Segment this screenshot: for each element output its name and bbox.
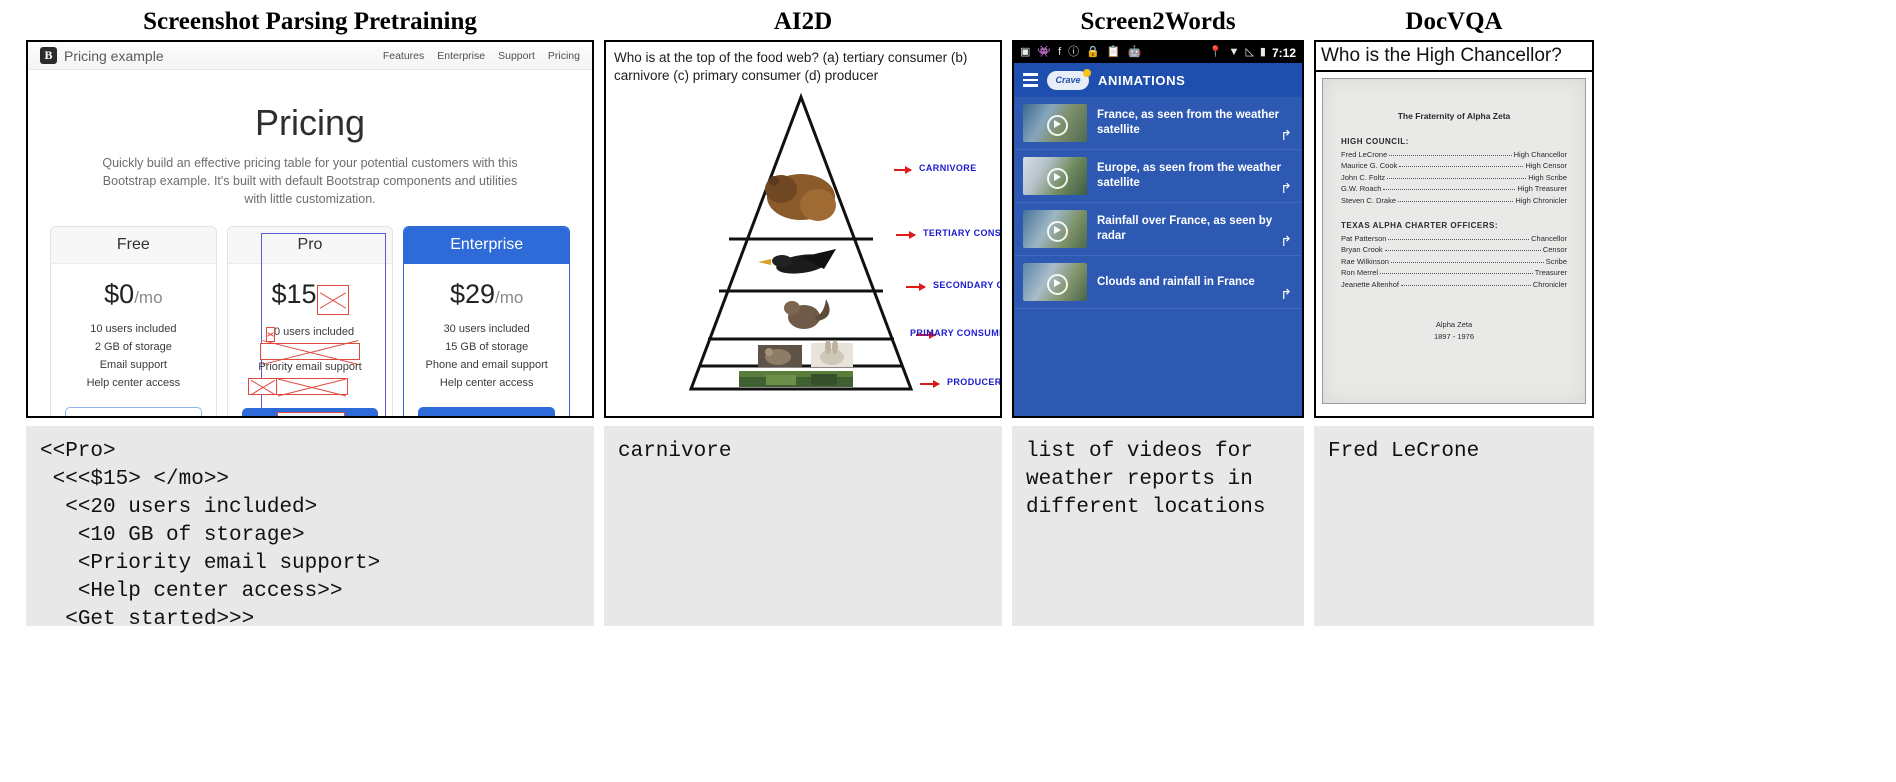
column-title-ai2d: AI2D	[604, 0, 1002, 34]
document-page: The Fraternity of Alpha Zeta HIGH COUNCI…	[1322, 78, 1586, 404]
column-screen2words: Screen2Words ▣ 👾 f ⓘ 🔒 📋 🤖 📍 ▼ ◺ ▮ 7:12	[1012, 0, 1304, 626]
figure-board: Screenshot Parsing Pretraining B Pricing…	[0, 0, 1896, 782]
navbar-brand[interactable]: Pricing example	[64, 48, 164, 64]
caption-screen2words: list of videos for weather reports in di…	[1012, 426, 1304, 626]
feature-item: Email support	[57, 357, 210, 375]
leader-dots	[1389, 155, 1511, 156]
price-amount: $15	[271, 280, 316, 310]
arrow-carnivore	[894, 169, 911, 171]
roster-row: John C. FoltzHigh Scribe	[1341, 173, 1567, 182]
feature-item: 30 users included	[410, 321, 563, 339]
nav-link-enterprise[interactable]: Enterprise	[437, 50, 485, 62]
price-amount: $29	[450, 279, 495, 309]
footer-org-name: Alpha Zeta	[1341, 319, 1567, 331]
column-title-docvqa: DocVQA	[1314, 0, 1594, 34]
price-period: /mo	[134, 288, 162, 307]
feature-item: Help center access	[410, 375, 563, 393]
roster-row: Fred LeCroneHigh Chancellor	[1341, 150, 1567, 159]
video-list[interactable]: France, as seen from the weather satelli…	[1014, 97, 1302, 416]
feature-item: Phone and email support	[410, 357, 563, 375]
pricing-card-free: Free $0/mo 10 users included 2 GB of sto…	[50, 226, 217, 418]
person-role: Scribe	[1546, 257, 1567, 266]
share-icon[interactable]: ↱	[1280, 233, 1292, 250]
person-role: Chancellor	[1531, 234, 1567, 243]
game-icon: 👾	[1037, 47, 1051, 58]
status-clock: 7:12	[1272, 46, 1296, 60]
facebook-icon: f	[1058, 47, 1061, 58]
crave-logo-dot	[1083, 69, 1091, 77]
bootstrap-logo-icon: B	[40, 47, 57, 64]
label-primary-consumer: PRIMARY CONSUMER	[910, 328, 1002, 338]
docvqa-question: Who is the High Chancellor?	[1316, 42, 1592, 72]
person-name: Jeanette Altenhof	[1341, 280, 1399, 289]
person-role: Censor	[1543, 245, 1567, 254]
pricing-navbar: B Pricing example Features Enterprise Su…	[28, 42, 592, 70]
section-heading-high-council: HIGH COUNCIL:	[1341, 137, 1567, 146]
roster-row: G.W. RoachHigh Treasurer	[1341, 184, 1567, 193]
mask-digit	[266, 327, 275, 342]
crave-logo-icon: Crave	[1047, 71, 1089, 90]
crave-logo-text: Crave	[1055, 75, 1080, 85]
page-title: Pricing	[44, 102, 576, 144]
feature-text: 20 users included	[268, 326, 354, 338]
column-docvqa: DocVQA Who is the High Chancellor? The F…	[1314, 0, 1594, 626]
leader-dots	[1388, 239, 1529, 240]
contact-us-button[interactable]: Contact us	[418, 407, 555, 418]
person-role: High Censor	[1525, 161, 1567, 170]
navbar-links: Features Enterprise Support Pricing	[383, 50, 580, 62]
feature-item: Priority email support	[234, 359, 387, 377]
column-title-screen2words: Screen2Words	[1012, 0, 1304, 34]
card-body-free: $0/mo 10 users included 2 GB of storage …	[51, 264, 216, 418]
leader-dots	[1385, 250, 1541, 251]
card-body-pro: $15 20 users included Priority email sup…	[228, 264, 393, 418]
signup-button[interactable]: Sign up for free	[65, 407, 202, 418]
sim-icon: ▣	[1020, 47, 1030, 58]
price-period: /mo	[495, 288, 523, 307]
leader-dots	[1391, 262, 1544, 263]
clipboard-icon: 📋	[1107, 47, 1121, 58]
leader-dots	[1387, 178, 1526, 179]
leader-dots	[1380, 273, 1533, 274]
play-icon[interactable]	[1047, 168, 1068, 189]
label-producer: PRODUCER	[947, 377, 1002, 387]
person-role: High Scribe	[1528, 173, 1567, 182]
person-name: G.W. Roach	[1341, 184, 1381, 193]
document-footer: Alpha Zeta 1897 - 1976	[1341, 319, 1567, 343]
footer-years: 1897 - 1976	[1341, 331, 1567, 343]
person-role: Treasurer	[1535, 268, 1567, 277]
battery-icon: ▮	[1260, 47, 1266, 58]
video-title: France, as seen from the weather satelli…	[1097, 108, 1293, 138]
play-icon[interactable]	[1047, 274, 1068, 295]
page-subtitle: Quickly build an effective pricing table…	[100, 154, 520, 208]
video-thumbnail[interactable]	[1023, 263, 1087, 301]
card-price-free: $0/mo	[57, 281, 210, 308]
leader-dots	[1401, 285, 1531, 286]
masked-price-period	[317, 285, 349, 315]
feature-item: Help center access	[57, 375, 210, 393]
card-price-pro: $15	[234, 281, 387, 311]
person-name: Maurice G. Cook	[1341, 161, 1397, 170]
video-thumbnail[interactable]	[1023, 104, 1087, 142]
arrow-secondary-consumer	[906, 286, 925, 288]
label-secondary-consumer: SECONDARY CONSUMER	[933, 280, 1002, 290]
play-icon[interactable]	[1047, 221, 1068, 242]
pricing-screenshot-panel: B Pricing example Features Enterprise Su…	[26, 40, 594, 418]
video-thumbnail[interactable]	[1023, 157, 1087, 195]
video-title: Rainfall over France, as seen by radar	[1097, 214, 1293, 244]
roster-row: Steven C. DrakeHigh Chronicler	[1341, 196, 1567, 205]
pricing-card-pro: Pro $15 20 users included Priority	[227, 226, 394, 418]
roster-row: Bryan CrookCensor	[1341, 245, 1567, 254]
label-carnivore: CARNIVORE	[919, 163, 977, 173]
app-bar-title: ANIMATIONS	[1098, 73, 1185, 88]
person-role: Chronicler	[1533, 280, 1567, 289]
arrow-tertiary-consumer	[896, 234, 915, 236]
person-name: Pat Patterson	[1341, 234, 1386, 243]
app-bar: Crave ANIMATIONS	[1014, 63, 1302, 97]
list-item[interactable]: France, as seen from the weather satelli…	[1014, 97, 1302, 150]
label-tertiary-consumer: TERTIARY CONSUMER	[923, 228, 1002, 238]
nav-link-features[interactable]: Features	[383, 50, 424, 62]
status-right-group: 📍 ▼ ◺ ▮ 7:12	[1209, 46, 1296, 60]
nav-link-support[interactable]: Support	[498, 50, 535, 62]
pricing-cards: Free $0/mo 10 users included 2 GB of sto…	[44, 226, 576, 418]
feature-item-masked	[234, 377, 387, 394]
feature-item: 2 GB of storage	[57, 339, 210, 357]
rabbit-image	[811, 340, 853, 367]
person-role: High Chronicler	[1515, 196, 1567, 205]
person-name: Steven C. Drake	[1341, 196, 1396, 205]
column-spp: Screenshot Parsing Pretraining B Pricing…	[26, 0, 594, 626]
card-title-free: Free	[51, 227, 216, 264]
masked-cta-label	[277, 412, 345, 418]
bear-image	[765, 174, 836, 221]
docvqa-panel: Who is the High Chancellor? The Fraterni…	[1314, 40, 1594, 418]
feature-item-masked-partial: 20 users included	[234, 324, 387, 342]
masked-help-feature-a	[248, 378, 278, 395]
info-icon: ⓘ	[1068, 47, 1079, 58]
food-pyramid-diagram: CARNIVORE TERTIARY CONSUMER SECONDARY CO…	[606, 89, 1000, 418]
person-name: John C. Foltz	[1341, 173, 1385, 182]
masked-storage-feature	[260, 343, 361, 360]
share-icon[interactable]: ↱	[1280, 180, 1292, 197]
person-name: Rae Wilkinson	[1341, 257, 1389, 266]
person-role: High Chancellor	[1514, 150, 1567, 159]
video-title: Europe, as seen from the weather satelli…	[1097, 161, 1293, 191]
pricing-body: Pricing Quickly build an effective prici…	[28, 70, 592, 418]
lock-icon: 🔒	[1086, 47, 1100, 58]
leader-dots	[1399, 166, 1523, 167]
person-role: High Treasurer	[1517, 184, 1567, 193]
card-body-enterprise: $29/mo 30 users included 15 GB of storag…	[404, 264, 569, 418]
share-icon[interactable]: ↱	[1280, 286, 1292, 303]
nav-link-pricing[interactable]: Pricing	[548, 50, 580, 62]
column-title-spp: Screenshot Parsing Pretraining	[26, 0, 594, 34]
video-title: Clouds and rainfall in France	[1097, 275, 1293, 290]
person-name: Fred LeCrone	[1341, 150, 1387, 159]
plants-image	[739, 371, 853, 387]
caption-spp: <<Pro> <<<$15> </mo>> <<20 users include…	[26, 426, 594, 626]
pricing-card-enterprise: Enterprise $29/mo 30 users included 15 G…	[403, 226, 570, 418]
masked-help-feature-b	[276, 378, 348, 395]
android-status-bar: ▣ 👾 f ⓘ 🔒 📋 🤖 📍 ▼ ◺ ▮ 7:12	[1014, 42, 1302, 63]
bird-image	[758, 249, 836, 277]
card-title-pro: Pro	[228, 227, 393, 264]
feature-item: 10 users included	[57, 321, 210, 339]
caption-docvqa: Fred LeCrone	[1314, 426, 1594, 626]
person-name: Ron Merrel	[1341, 268, 1378, 277]
list-item[interactable]: Rainfall over France, as seen by radar ↱	[1014, 203, 1302, 256]
roster-row: Pat PattersonChancellor	[1341, 234, 1567, 243]
caption-ai2d: carnivore	[604, 426, 1002, 626]
pyramid-svg	[606, 89, 1002, 418]
hamburger-icon[interactable]	[1023, 73, 1038, 87]
ai2d-question: Who is at the top of the food web? (a) t…	[606, 42, 1000, 89]
person-name: Bryan Crook	[1341, 245, 1383, 254]
roster-row: Jeanette AltenhofChronicler	[1341, 280, 1567, 289]
document-title: The Fraternity of Alpha Zeta	[1341, 111, 1567, 121]
feature-item-masked	[234, 342, 387, 359]
ai2d-panel: Who is at the top of the food web? (a) t…	[604, 40, 1002, 418]
squirrel-image	[784, 299, 830, 329]
roster-row: Rae WilkinsonScribe	[1341, 257, 1567, 266]
mouse-image	[758, 345, 802, 367]
screen2words-panel: ▣ 👾 f ⓘ 🔒 📋 🤖 📍 ▼ ◺ ▮ 7:12 Cr	[1012, 40, 1304, 418]
column-ai2d: AI2D Who is at the top of the food web? …	[604, 0, 1002, 626]
get-started-button[interactable]: Get started	[242, 408, 379, 418]
list-item[interactable]: Clouds and rainfall in France ↱	[1014, 256, 1302, 309]
android-icon: 🤖	[1128, 47, 1142, 58]
roster-row: Ron MerrelTreasurer	[1341, 268, 1567, 277]
video-thumbnail[interactable]	[1023, 210, 1087, 248]
play-icon[interactable]	[1047, 115, 1068, 136]
leader-dots	[1398, 201, 1513, 202]
location-icon: 📍	[1209, 47, 1223, 58]
card-price-enterprise: $29/mo	[410, 281, 563, 308]
signal-off-icon: ◺	[1245, 47, 1253, 58]
leader-dots	[1383, 189, 1515, 190]
roster-row: Maurice G. CookHigh Censor	[1341, 161, 1567, 170]
section-heading-texas-alpha: TEXAS ALPHA CHARTER OFFICERS:	[1341, 221, 1567, 230]
arrow-producer	[920, 383, 939, 385]
feature-item: 15 GB of storage	[410, 339, 563, 357]
share-icon[interactable]: ↱	[1280, 127, 1292, 144]
price-amount: $0	[104, 279, 134, 309]
card-title-enterprise: Enterprise	[404, 227, 569, 264]
wifi-icon: ▼	[1229, 47, 1240, 58]
list-item[interactable]: Europe, as seen from the weather satelli…	[1014, 150, 1302, 203]
